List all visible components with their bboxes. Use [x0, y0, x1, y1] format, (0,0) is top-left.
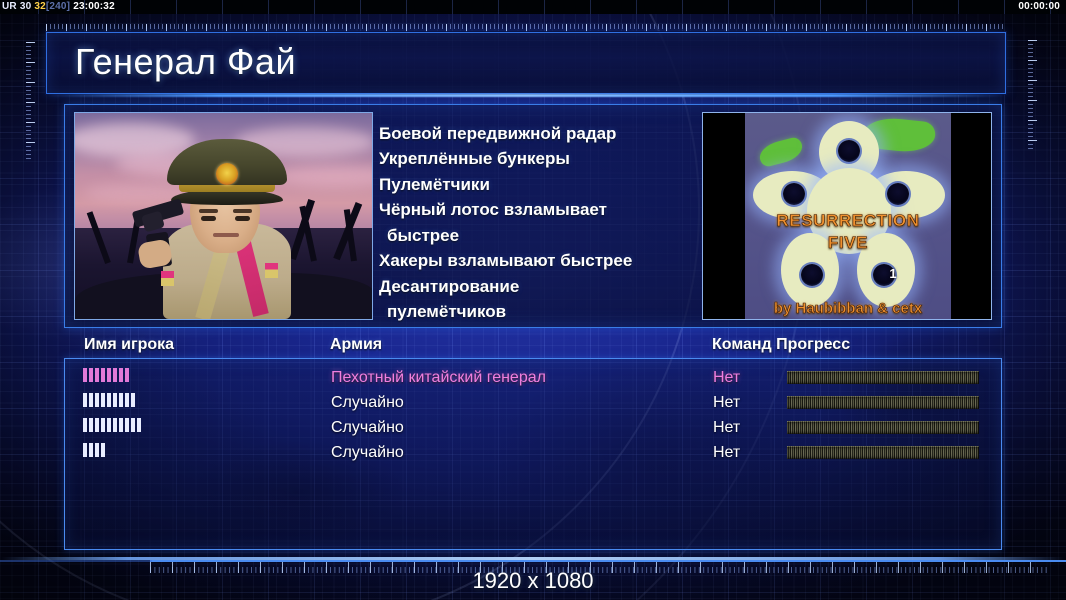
player-name-glyph	[113, 418, 117, 432]
player-name-glyph	[89, 368, 93, 382]
player-name-glyph	[101, 393, 105, 407]
player-name-cell[interactable]	[83, 415, 143, 440]
portrait-mouth	[213, 233, 239, 237]
player-name-glyph	[131, 418, 135, 432]
player-name-glyph	[119, 393, 123, 407]
player-name-glyph	[119, 368, 123, 382]
ability-line: Чёрный лотос взламывает	[379, 197, 691, 223]
player-name-glyph	[137, 418, 141, 432]
page-title: Генерал Фай	[75, 41, 296, 83]
ability-line-clipped	[379, 109, 691, 121]
player-name-glyph	[113, 368, 117, 382]
column-header-progress: Команд Прогресс	[712, 336, 850, 354]
player-progress-bar	[787, 371, 979, 384]
map-title-line1: RESURRECTION	[745, 211, 951, 231]
player-name-glyph	[89, 443, 93, 457]
footer-glow-line	[0, 557, 1066, 560]
portrait-eye	[201, 216, 216, 221]
hud-prefix: UR 30	[2, 1, 34, 12]
portrait-medal	[161, 271, 174, 286]
player-name-glyphs	[83, 443, 107, 457]
column-header-player-name: Имя игрока	[84, 336, 174, 354]
player-table: Пехотный китайский генералНетСлучайноНет…	[64, 358, 1002, 550]
player-name-cell[interactable]	[83, 440, 107, 465]
map-title-line2: FIVE	[745, 233, 951, 253]
player-name-glyph	[95, 418, 99, 432]
column-header-army: Армия	[330, 336, 382, 354]
player-name-glyph	[113, 393, 117, 407]
map-terrain-decal	[757, 136, 805, 168]
portrait-eye	[235, 216, 250, 221]
player-name-glyph	[95, 368, 99, 382]
player-name-glyph	[101, 443, 105, 457]
player-army-cell[interactable]: Случайно	[331, 415, 404, 440]
player-army-cell[interactable]: Случайно	[331, 440, 404, 465]
player-name-glyph	[107, 418, 111, 432]
player-name-glyph	[83, 418, 87, 432]
hud-status-left: UR 30 32[240] 23:00:32	[2, 0, 115, 14]
player-name-glyph	[107, 393, 111, 407]
ability-line: Боевой передвижной радар	[379, 121, 691, 147]
hud-bracket: [240]	[46, 1, 70, 12]
table-row[interactable]: СлучайноНет	[65, 415, 1001, 440]
table-row[interactable]: СлучайноНет	[65, 440, 1001, 465]
player-name-glyph	[125, 368, 129, 382]
portrait-cap-emblem-icon	[216, 163, 238, 185]
ability-line: Укреплённые бункеры	[379, 146, 691, 172]
player-name-glyph	[101, 368, 105, 382]
player-name-glyph	[101, 418, 105, 432]
player-name-glyph	[107, 368, 111, 382]
player-name-glyphs	[83, 393, 137, 407]
header-panel: Генерал Фай	[46, 32, 1006, 94]
general-abilities-list: Боевой передвижной радар Укреплённые бун…	[379, 109, 691, 323]
map-start-position-label: 1	[882, 263, 904, 285]
player-team-cell[interactable]: Нет	[713, 440, 740, 465]
player-army-cell[interactable]: Пехотный китайский генерал	[331, 365, 546, 390]
portrait-brow	[233, 209, 252, 213]
player-army-cell[interactable]: Случайно	[331, 390, 404, 415]
map-preview[interactable]: 1 RESURRECTION FIVE by Haubibban & cetx	[702, 112, 992, 320]
hud-top-bar: UR 30 32[240] 23:00:32 00:00:00	[0, 0, 1066, 14]
player-name-glyph	[125, 393, 129, 407]
map-author: by Haubibban & cetx	[745, 300, 951, 317]
resolution-label: 1920 x 1080	[0, 568, 1066, 594]
general-portrait	[74, 112, 373, 320]
map-start-position	[887, 183, 909, 205]
general-abilities-clip: Боевой передвижной радар Укреплённые бун…	[379, 109, 691, 323]
player-name-glyph	[89, 393, 93, 407]
general-info-panel: Боевой передвижной радар Укреплённые бун…	[64, 104, 1002, 328]
game-lobby-screen: Генерал Фай	[0, 0, 1066, 600]
ability-line: Пулемётчики	[379, 172, 691, 198]
player-name-cell[interactable]	[83, 365, 131, 390]
hud-elapsed-time: 23:00:32	[70, 1, 115, 12]
map-start-position	[783, 183, 805, 205]
ability-line: пулемётчиков	[379, 299, 691, 323]
ability-line: Десантирование	[379, 274, 691, 300]
hud-top-bar-grid	[0, 0, 1066, 14]
map-start-position	[801, 264, 823, 286]
player-name-glyphs	[83, 418, 143, 432]
player-team-cell[interactable]: Нет	[713, 415, 740, 440]
map-preview-image: 1 RESURRECTION FIVE by Haubibban & cetx	[745, 113, 951, 320]
player-name-glyph	[125, 418, 129, 432]
player-name-glyphs	[83, 368, 131, 382]
ability-line: Хакеры взламывают быстрее	[379, 248, 691, 274]
ability-line: быстрее	[379, 223, 691, 249]
table-row[interactable]: СлучайноНет	[65, 390, 1001, 415]
player-progress-bar	[787, 396, 979, 409]
player-table-header: Имя игрока Армия Команд Прогресс	[64, 336, 1002, 358]
player-progress-bar	[787, 421, 979, 434]
player-name-glyph	[83, 443, 87, 457]
player-name-cell[interactable]	[83, 390, 137, 415]
player-name-glyph	[89, 418, 93, 432]
table-row[interactable]: Пехотный китайский генералНет	[65, 365, 1001, 390]
hud-clock-right: 00:00:00	[1018, 0, 1060, 14]
player-name-glyph	[83, 393, 87, 407]
player-name-glyph	[83, 368, 87, 382]
player-name-glyph	[119, 418, 123, 432]
player-name-glyph	[95, 443, 99, 457]
portrait-medal	[265, 263, 278, 278]
player-name-glyph	[131, 393, 135, 407]
portrait-brow	[199, 209, 218, 213]
player-progress-bar	[787, 446, 979, 459]
footer-left-stub	[0, 560, 152, 562]
hud-highlight: 32	[34, 1, 46, 12]
player-team-cell[interactable]: Нет	[713, 390, 740, 415]
player-name-glyph	[95, 393, 99, 407]
map-start-position	[838, 140, 860, 162]
player-team-cell[interactable]: Нет	[713, 365, 740, 390]
